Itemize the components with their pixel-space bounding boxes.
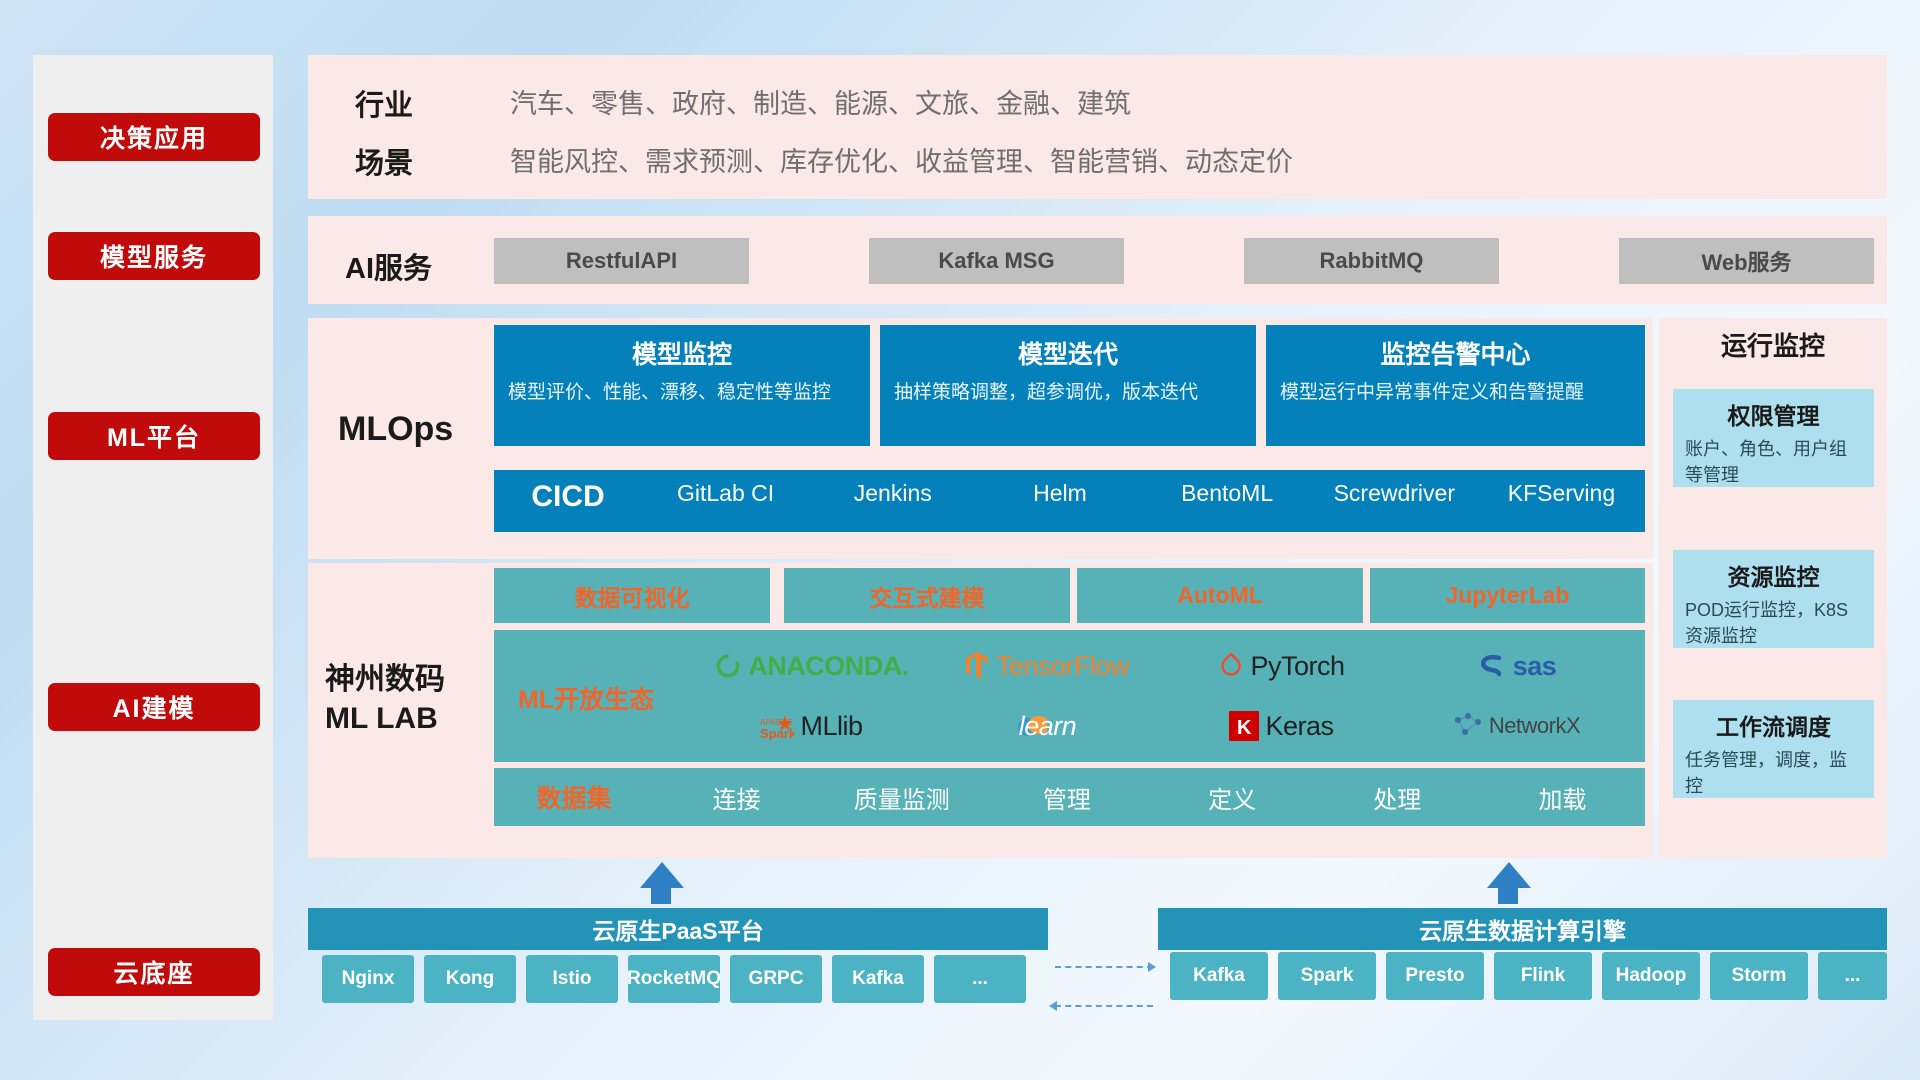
- stage-chip-cloud-base[interactable]: 云底座: [48, 948, 260, 996]
- monitor-card-title: 工作流调度: [1685, 708, 1862, 742]
- service-chip-web-service[interactable]: Web服务: [1619, 238, 1874, 284]
- application-row-value-scenario: 智能风控、需求预测、库存优化、收益管理、智能营销、动态定价: [510, 140, 1293, 179]
- cloud-chip-more-right[interactable]: ...: [1818, 952, 1887, 1000]
- monitor-card-permission[interactable]: 权限管理 账户、角色、用户组等管理: [1673, 389, 1874, 487]
- mlops-card-model-iteration[interactable]: 模型迭代 抽样策略调整，超参调优，版本迭代: [880, 325, 1256, 446]
- scikit-learn-logo-text: learn: [1019, 711, 1077, 742]
- dashed-connector-left-icon: [1055, 1005, 1153, 1007]
- stage-chip-model-service[interactable]: 模型服务: [48, 232, 260, 280]
- dashed-connector-right-icon: [1055, 966, 1153, 968]
- cloud-chip-storm[interactable]: Storm: [1710, 952, 1808, 1000]
- dataset-item-process[interactable]: 处理: [1315, 780, 1480, 815]
- svg-text:K: K: [1237, 717, 1252, 739]
- cicd-item-screwdriver[interactable]: Screwdriver: [1311, 480, 1478, 506]
- anaconda-logo-text: ANACONDA.: [748, 651, 909, 682]
- cloud-chip-spark[interactable]: Spark: [1278, 952, 1376, 1000]
- cloud-chip-kong[interactable]: Kong: [424, 955, 516, 1003]
- architecture-diagram: 决策应用 模型服务 ML平台 AI建模 云底座 行业 汽车、零售、政府、制造、能…: [0, 0, 1920, 1080]
- monitor-card-resource[interactable]: 资源监控 POD运行监控，K8S资源监控: [1673, 550, 1874, 648]
- arrow-up-left-icon: [640, 862, 684, 888]
- mlops-card-title: 模型监控: [508, 335, 856, 371]
- spark-mllib-logo-text: MLlib: [800, 711, 862, 742]
- dataset-item-define[interactable]: 定义: [1150, 780, 1315, 815]
- mlops-card-desc: 抽样策略调整，超参调优，版本迭代: [894, 379, 1242, 407]
- mlops-card-model-monitoring[interactable]: 模型监控 模型评价、性能、漂移、稳定性等监控: [494, 325, 870, 446]
- svg-text:Spark: Spark: [760, 726, 794, 741]
- mlops-card-alert-center[interactable]: 监控告警中心 模型运行中异常事件定义和告警提醒: [1266, 325, 1645, 446]
- sas-logo-text: sas: [1513, 651, 1557, 682]
- arrow-up-left-stem: [651, 886, 671, 904]
- cloud-header-paas: 云原生PaaS平台: [308, 908, 1048, 950]
- mlops-card-title: 监控告警中心: [1280, 335, 1631, 371]
- monitor-card-workflow[interactable]: 工作流调度 任务管理，调度，监控: [1673, 700, 1874, 798]
- anaconda-logo: ANACONDA.: [714, 651, 909, 682]
- lab-tab-jupyterlab[interactable]: JupyterLab: [1370, 568, 1645, 623]
- networkx-logo: NetworkX: [1453, 712, 1580, 740]
- keras-logo: K Keras: [1229, 711, 1333, 742]
- monitor-card-title: 资源监控: [1685, 558, 1862, 592]
- lab-tab-interactive-modeling[interactable]: 交互式建模: [784, 568, 1070, 623]
- service-chip-kafka-msg[interactable]: Kafka MSG: [869, 238, 1124, 284]
- monitor-card-title: 权限管理: [1685, 397, 1862, 431]
- stage-chip-ai-modeling[interactable]: AI建模: [48, 683, 260, 731]
- dataset-item-connect[interactable]: 连接: [654, 780, 819, 815]
- cloud-chip-istio[interactable]: Istio: [526, 955, 618, 1003]
- application-row-key-industry: 行业: [355, 82, 413, 124]
- mlops-card-title: 模型迭代: [894, 335, 1242, 371]
- dashed-arrowhead-left-icon: [1049, 1001, 1057, 1011]
- service-layer-label: AI服务: [345, 245, 432, 287]
- dataset-item-quality[interactable]: 质量监测: [819, 780, 984, 815]
- pytorch-logo-text: PyTorch: [1250, 651, 1344, 682]
- ml-lab-label-line2: ML LAB: [325, 699, 445, 738]
- ml-lab-label-line1: 神州数码: [325, 660, 445, 699]
- monitor-card-desc: POD运行监控，K8S资源监控: [1685, 597, 1862, 649]
- cloud-chip-grpc[interactable]: GRPC: [730, 955, 822, 1003]
- spark-mllib-logo: APACHESpark MLlib: [760, 711, 862, 742]
- mlops-card-desc: 模型运行中异常事件定义和告警提醒: [1280, 379, 1631, 407]
- ml-ecosystem-logo-grid: ANACONDA. TensorFlow PyTorch sas APACHES…: [694, 636, 1634, 756]
- cicd-item-gitlab-ci[interactable]: GitLab CI: [642, 480, 809, 506]
- lab-tab-data-visualization[interactable]: 数据可视化: [494, 568, 770, 623]
- dataset-item-load[interactable]: 加载: [1480, 780, 1645, 815]
- cloud-chip-kafka[interactable]: Kafka: [832, 955, 924, 1003]
- tensorflow-logo-text: TensorFlow: [996, 651, 1129, 682]
- dataset-title: 数据集: [494, 779, 654, 815]
- ml-ecosystem-title: ML开放生态: [518, 680, 654, 716]
- cloud-chip-hadoop[interactable]: Hadoop: [1602, 952, 1700, 1000]
- ml-lab-label: 神州数码 ML LAB: [325, 660, 445, 738]
- cloud-chip-rocketmq[interactable]: RocketMQ: [628, 955, 720, 1003]
- tensorflow-logo: TensorFlow: [964, 651, 1129, 682]
- cloud-chip-flink[interactable]: Flink: [1494, 952, 1592, 1000]
- dataset-item-manage[interactable]: 管理: [984, 780, 1149, 815]
- stage-chip-ml-platform[interactable]: ML平台: [48, 412, 260, 460]
- dataset-bar: 数据集 连接 质量监测 管理 定义 处理 加载: [494, 768, 1645, 826]
- cicd-title: CICD: [494, 480, 642, 514]
- pytorch-logo: PyTorch: [1218, 651, 1344, 682]
- cloud-chip-presto[interactable]: Presto: [1386, 952, 1484, 1000]
- sas-logo: sas: [1477, 651, 1557, 682]
- cloud-chip-more-left[interactable]: ...: [934, 955, 1026, 1003]
- dashed-arrowhead-right-icon: [1148, 962, 1156, 972]
- monitor-column-title: 运行监控: [1659, 326, 1887, 363]
- monitor-card-desc: 任务管理，调度，监控: [1685, 747, 1862, 799]
- application-row-value-industry: 汽车、零售、政府、制造、能源、文旅、金融、建筑: [510, 82, 1131, 121]
- mlops-layer-label: MLOps: [338, 410, 453, 449]
- cicd-item-helm[interactable]: Helm: [976, 480, 1143, 506]
- arrow-up-right-icon: [1487, 862, 1531, 888]
- stage-rail: [33, 55, 273, 1020]
- application-row-key-scenario: 场景: [355, 140, 413, 182]
- ml-ecosystem-box: ML开放生态 ANACONDA. TensorFlow PyTorch sas …: [494, 630, 1645, 762]
- mlops-card-desc: 模型评价、性能、漂移、稳定性等监控: [508, 379, 856, 407]
- service-chip-restfulapi[interactable]: RestfulAPI: [494, 238, 749, 284]
- arrow-up-right-stem: [1498, 886, 1518, 904]
- networkx-logo-text: NetworkX: [1489, 713, 1580, 739]
- cloud-chip-nginx[interactable]: Nginx: [322, 955, 414, 1003]
- cloud-header-engine: 云原生数据计算引擎: [1158, 908, 1887, 950]
- stage-chip-decision-application[interactable]: 决策应用: [48, 113, 260, 161]
- monitor-card-desc: 账户、角色、用户组等管理: [1685, 436, 1862, 488]
- service-chip-rabbitmq[interactable]: RabbitMQ: [1244, 238, 1499, 284]
- keras-logo-text: Keras: [1265, 711, 1333, 742]
- cicd-item-jenkins[interactable]: Jenkins: [809, 480, 976, 506]
- lab-tab-automl[interactable]: AutoML: [1077, 568, 1363, 623]
- cicd-bar: CICD GitLab CI Jenkins Helm BentoML Scre…: [494, 470, 1645, 532]
- cloud-chip-kafka-engine[interactable]: Kafka: [1170, 952, 1268, 1000]
- cicd-item-kfserving[interactable]: KFServing: [1478, 480, 1645, 506]
- scikit-learn-logo: learn: [1017, 711, 1077, 742]
- cicd-item-bentoml[interactable]: BentoML: [1144, 480, 1311, 506]
